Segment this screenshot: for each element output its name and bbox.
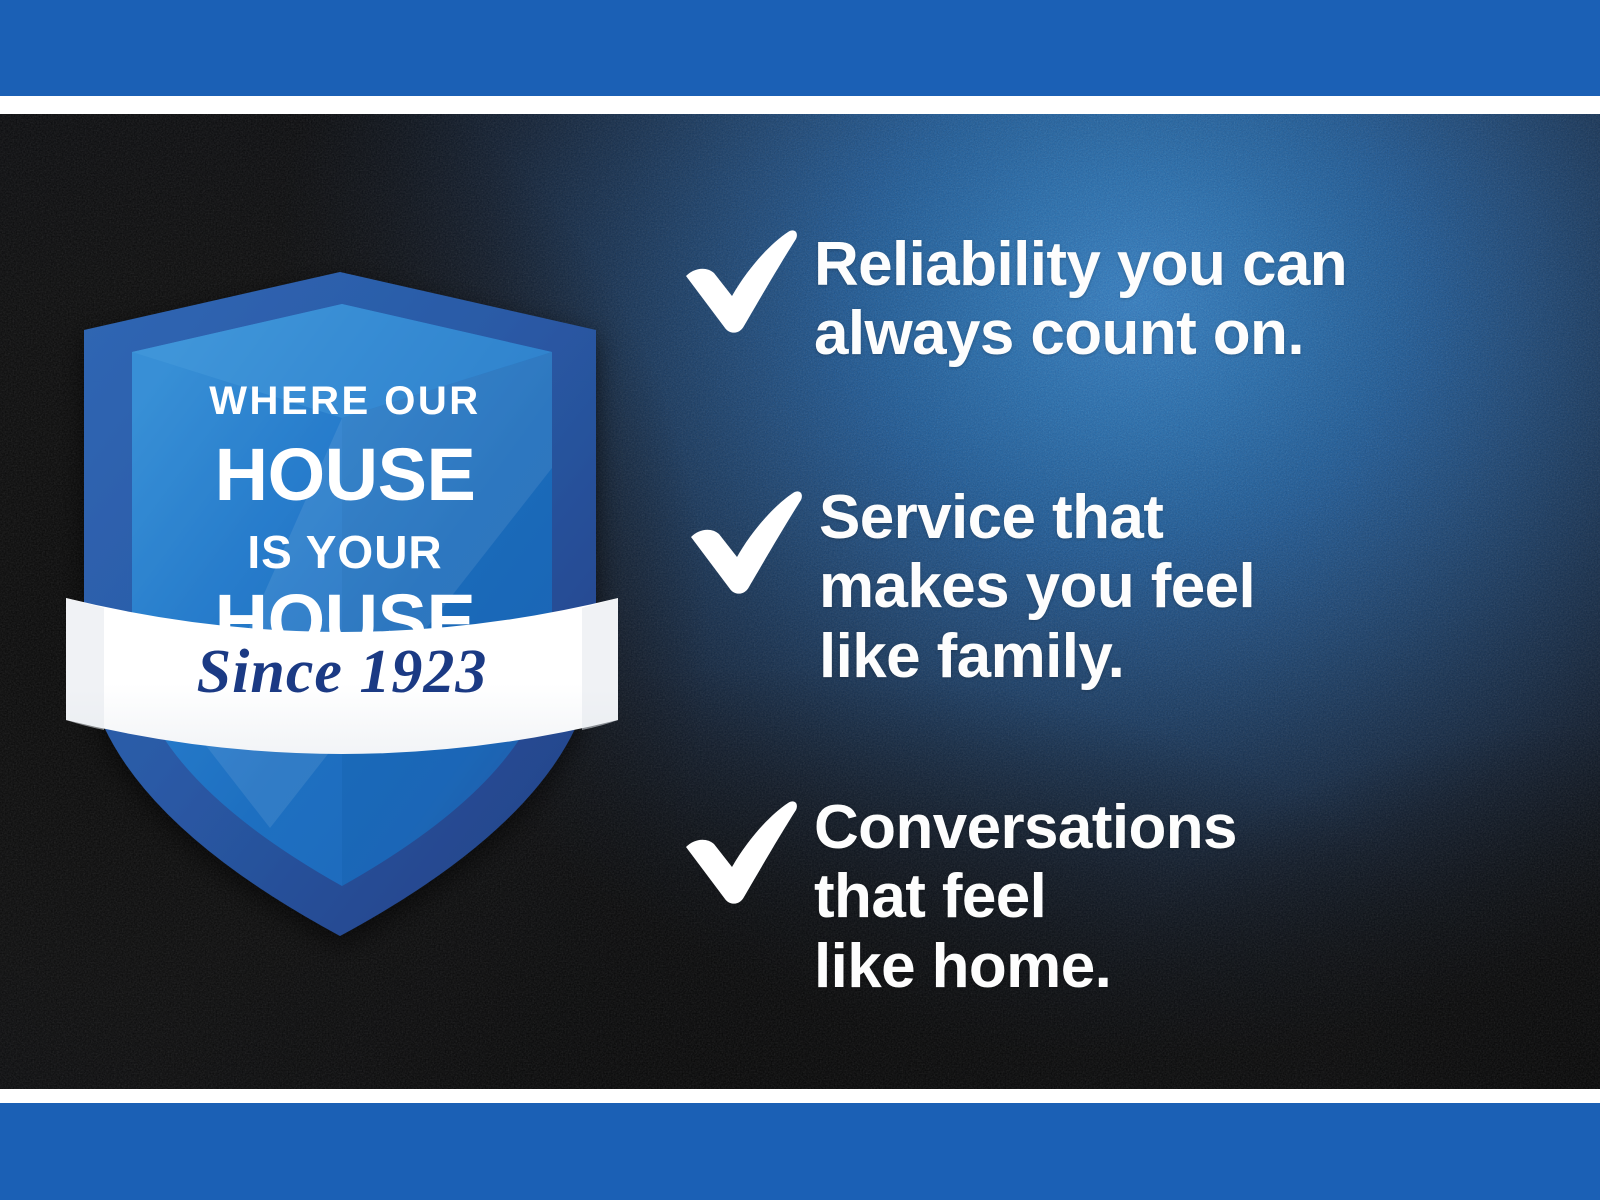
- promo-poster: WHERE OUR HOUSE IS YOUR HOUSE Since 1923: [0, 0, 1600, 1200]
- benefit-text: Reliability you can always count on.: [814, 218, 1347, 369]
- check-icon: [670, 789, 800, 909]
- shield-line-2: HOUSE: [215, 433, 476, 516]
- check-icon: [675, 479, 805, 599]
- ribbon-text: Since 1923: [197, 638, 488, 706]
- benefit-text: Service that makes you feel like family.: [819, 479, 1255, 691]
- check-icon: [670, 218, 800, 338]
- shield-line-1: WHERE OUR: [209, 379, 480, 423]
- shield-badge: WHERE OUR HOUSE IS YOUR HOUSE Since 1923: [70, 268, 630, 940]
- benefit-item: Service that makes you feel like family.: [675, 479, 1255, 691]
- benefit-item: Conversations that feel like home.: [670, 789, 1237, 1001]
- bottom-brand-bar: [0, 1103, 1600, 1200]
- benefit-item: Reliability you can always count on.: [670, 218, 1347, 369]
- top-brand-bar: [0, 0, 1600, 96]
- shield-line-3: IS YOUR: [247, 526, 442, 578]
- benefit-text: Conversations that feel like home.: [814, 789, 1237, 1001]
- benefits-list: Reliability you can always count on. Ser…: [660, 114, 1560, 1089]
